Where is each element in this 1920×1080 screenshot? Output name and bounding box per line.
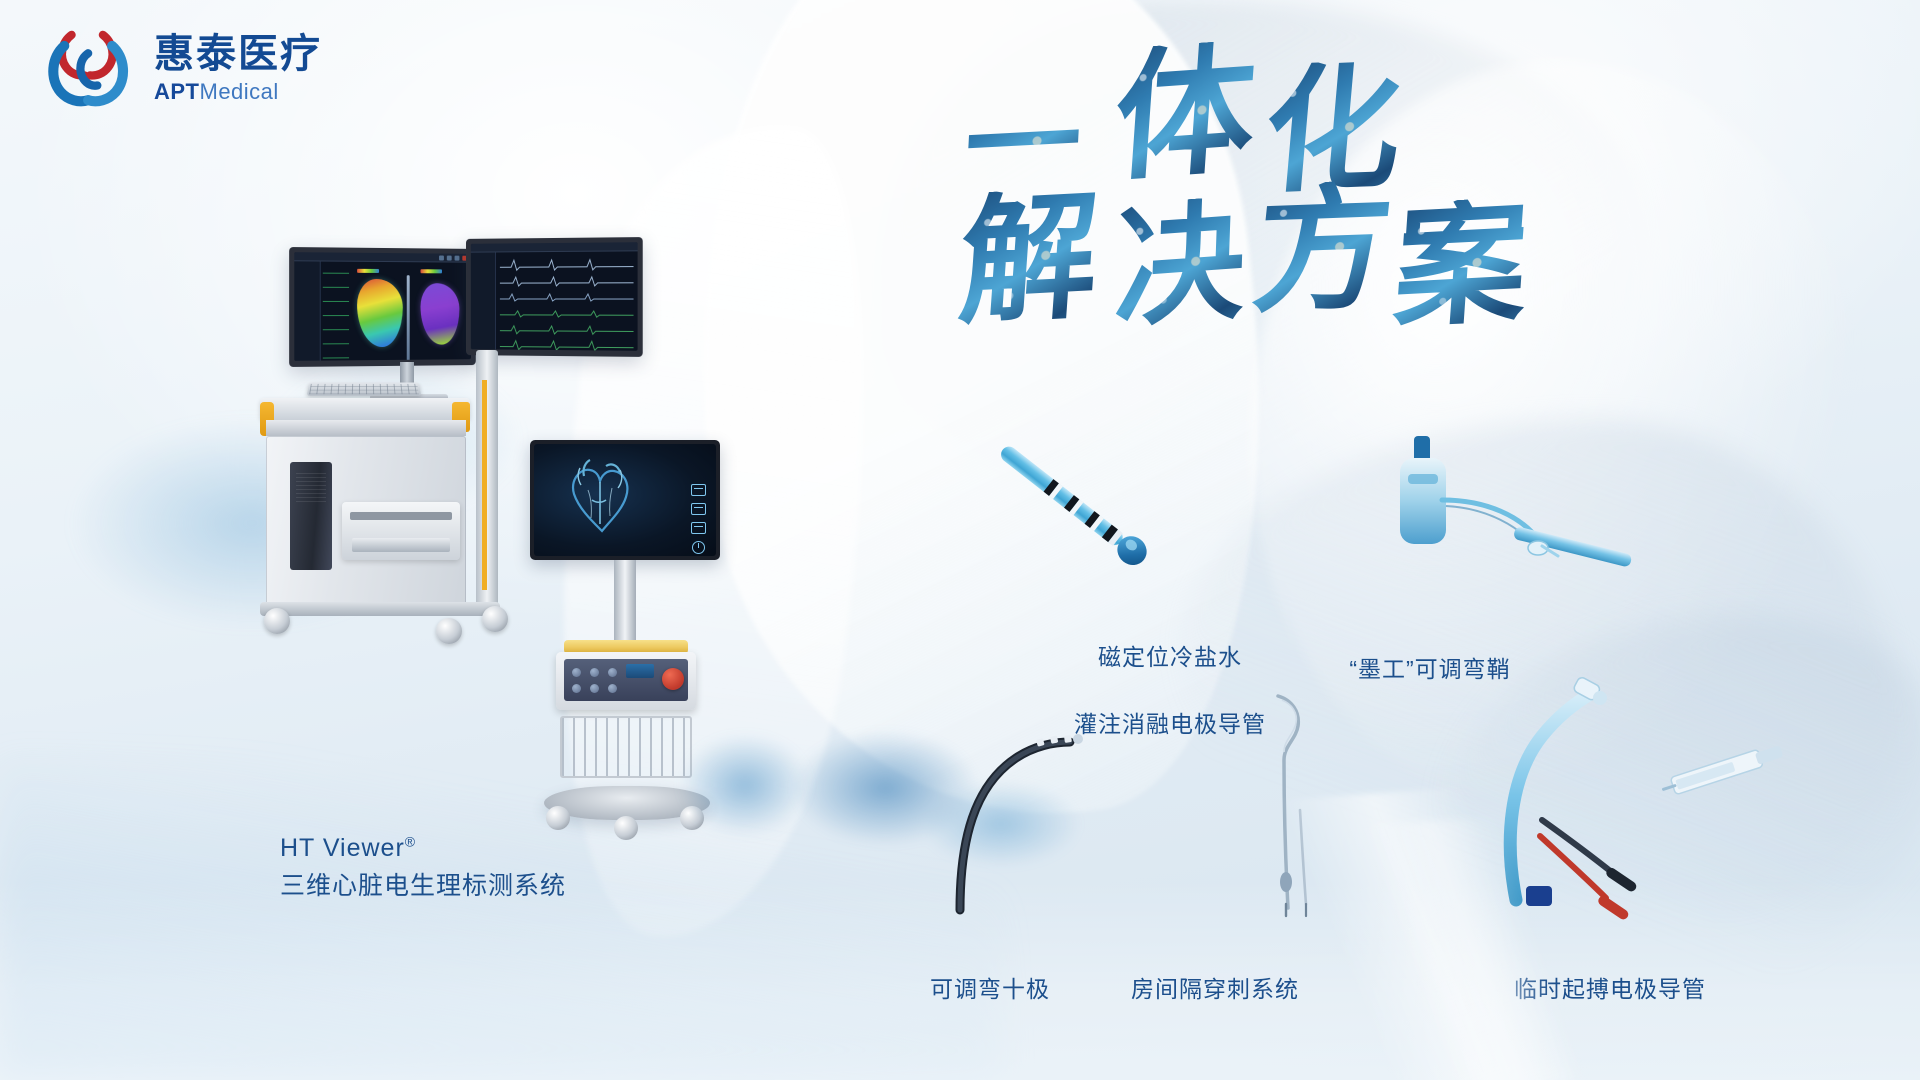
workstation-name-en: HT Viewer® — [280, 830, 566, 868]
ecg-strip-lane — [323, 265, 349, 357]
headline-char-4: 解 — [955, 186, 1103, 332]
headline-char-7: 案 — [1390, 196, 1531, 336]
keyboard — [307, 382, 421, 395]
ink-wash-blue-bottom — [0, 760, 1000, 1080]
workstation-name-cn: 三维心脏电生理标测系统 — [280, 868, 566, 906]
layout-icon[interactable] — [691, 522, 706, 534]
dual-window-icon[interactable] — [691, 503, 706, 515]
workstation-label: HT Viewer® 三维心脏电生理标测系统 — [280, 830, 566, 905]
ecg-channel-list — [471, 252, 496, 349]
ablation-catheter-icon — [980, 440, 1180, 580]
ecg-monitor-right — [466, 237, 643, 357]
cart-caster — [436, 618, 462, 644]
toolbar-icon — [439, 256, 444, 261]
cart-base — [260, 602, 500, 616]
transseptal-needle-icon — [1230, 690, 1350, 920]
color-scale-legend — [420, 269, 441, 273]
cart-column — [476, 350, 498, 606]
console-power-knob[interactable] — [662, 668, 684, 690]
rf-generator-console — [556, 652, 696, 710]
power-icon[interactable] — [692, 541, 705, 554]
console-button[interactable] — [590, 668, 599, 677]
cardiac-map-model-b — [420, 283, 459, 345]
console-button[interactable] — [608, 668, 617, 677]
headline-char-5: 决 — [1113, 195, 1247, 335]
window-icon[interactable] — [691, 484, 706, 496]
console-display — [626, 664, 654, 678]
cart-caster — [482, 606, 508, 632]
cart-shelf — [266, 420, 466, 436]
cart-caster — [680, 806, 704, 830]
brand-name-cn: 惠泰医疗 — [154, 34, 322, 74]
display-pole — [614, 560, 636, 646]
computer-tower — [290, 462, 332, 570]
headline-char-2: 体 — [1110, 39, 1260, 190]
product-label-decapolar: 可调弯十极 — [880, 940, 1100, 1040]
cart-caster — [614, 816, 638, 840]
cart-worktop — [260, 398, 470, 420]
product-label-line1: 临时起搏电极导管 — [1460, 973, 1760, 1006]
product-label-line1: 可调弯十极 — [880, 973, 1100, 1006]
console-button[interactable] — [590, 684, 599, 693]
pacing-catheter-icon — [1480, 670, 1810, 920]
brand-name-en: APTMedical — [154, 81, 322, 103]
headline-char-6: 方 — [1248, 179, 1398, 320]
heart-monitor — [530, 440, 720, 560]
console-button[interactable] — [572, 668, 581, 677]
cart-caster — [264, 608, 290, 634]
console-button[interactable] — [572, 684, 581, 693]
toolbar-icon — [455, 256, 460, 261]
brand-logo: 惠泰医疗 APTMedical — [44, 22, 322, 114]
product-label-transseptal: 房间隔穿刺系统 — [1080, 940, 1350, 1040]
ecg-waveform-panel — [500, 254, 634, 346]
heart-display-cart — [530, 440, 730, 840]
ecg-toolbar — [471, 242, 638, 252]
catheter-render — [407, 275, 410, 361]
headline-calligraphy: 一 体 化 解 决 方 案 — [965, 40, 1665, 340]
cardiac-map-model-a — [357, 279, 403, 347]
brand-name-en-light: Medical — [200, 79, 279, 104]
mapping-side-rail — [294, 261, 321, 361]
storage-basket — [560, 716, 692, 778]
mapping-monitor-left — [289, 247, 476, 367]
heart-model-render — [554, 454, 646, 550]
product-label-pacing-catheter: 临时起搏电极导管 — [1460, 940, 1760, 1040]
decapolar-catheter-icon — [940, 720, 1100, 920]
heart-monitor-screen — [534, 444, 716, 556]
apt-medical-double-heart-logo — [44, 22, 136, 114]
ecg-screen — [471, 242, 638, 351]
product-label-line1: 磁定位冷盐水 — [1040, 641, 1300, 674]
color-scale-legend — [357, 269, 379, 273]
cart-column-accent — [482, 380, 487, 590]
brand-name-en-bold: APT — [154, 79, 200, 104]
printer — [342, 502, 460, 560]
poster-canvas: 惠泰医疗 APTMedical 一 体 化 解 决 方 案 — [0, 0, 1920, 1080]
workstation-name-en-text: HT Viewer — [280, 834, 405, 862]
toolbar-icon — [447, 256, 452, 261]
console-button[interactable] — [608, 684, 617, 693]
mapping-screen — [294, 252, 471, 361]
trademark-symbol: ® — [405, 834, 416, 850]
cart-caster — [546, 806, 570, 830]
product-label-line1: 房间隔穿刺系统 — [1080, 973, 1350, 1006]
steerable-sheath-icon — [1390, 430, 1650, 610]
heart-monitor-icon-row — [691, 484, 706, 554]
